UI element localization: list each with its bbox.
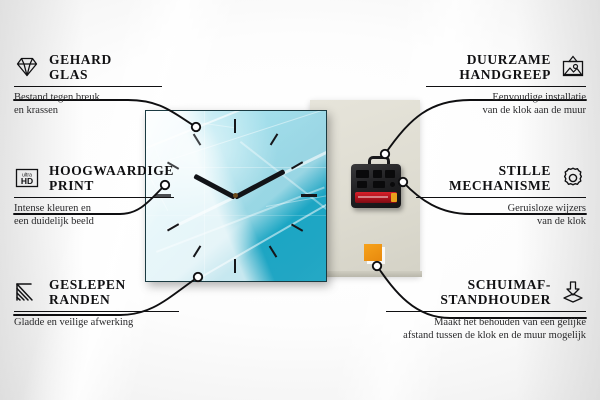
clock-tick-11 xyxy=(193,133,202,145)
clock-tick-1 xyxy=(270,133,279,145)
feather-streak xyxy=(266,192,327,207)
feature-gehard-glas: GEHARDGLAS Bestand tegen breuken krassen xyxy=(14,52,174,117)
feature-title: DUURZAMEHANDGREEP xyxy=(459,52,551,82)
glass-seam xyxy=(204,111,205,281)
feature-divider xyxy=(386,311,586,312)
clock-hour-hand xyxy=(193,174,236,200)
feather-streak xyxy=(176,119,236,128)
feature-divider xyxy=(426,86,586,87)
feature-divider xyxy=(14,86,162,87)
feature-stille-mechanisme: STILLEMECHANISME Geruisloze wijzersvan d… xyxy=(416,163,586,228)
feature-header: GESLEPENRANDEN xyxy=(14,277,189,307)
feature-title: GESLEPENRANDEN xyxy=(49,277,126,307)
feature-description: Eenvoudige installatievan de klok aan de… xyxy=(426,92,586,117)
feature-title: STILLEMECHANISME xyxy=(449,163,551,193)
feature-header: SCHUIMAF-STANDHOUDER xyxy=(386,277,586,307)
feature-description: Intense kleuren eneen duidelijk beeld xyxy=(14,203,184,228)
feather-streak xyxy=(201,201,327,278)
feature-divider xyxy=(14,311,179,312)
movement-detail xyxy=(385,170,395,178)
movement-detail xyxy=(390,182,395,187)
foam-spacer-pad xyxy=(364,244,382,261)
picture-hanger-icon xyxy=(560,54,586,80)
clock-tick-7 xyxy=(193,245,202,257)
feature-header: ultra HD HOOGWAARDIGEPRINT xyxy=(14,163,184,193)
feature-hoogwaardige-print: ultra HD HOOGWAARDIGEPRINT Intense kleur… xyxy=(14,163,184,228)
clock-tick-3 xyxy=(301,194,317,197)
feature-divider xyxy=(14,197,174,198)
battery-positive-tip xyxy=(391,193,397,202)
beveled-edges-icon xyxy=(14,279,40,305)
infographic-canvas: GEHARDGLAS Bestand tegen breuken krassen… xyxy=(0,0,600,400)
clock-minute-hand xyxy=(234,169,286,200)
diamond-icon xyxy=(14,54,40,80)
clock-tick-6 xyxy=(234,259,236,273)
movement-detail xyxy=(373,170,382,178)
feature-description: Gladde en veilige afwerking xyxy=(14,317,189,330)
feature-header: DUURZAMEHANDGREEP xyxy=(426,52,586,82)
feather-streak xyxy=(240,141,327,216)
feature-header: GEHARDGLAS xyxy=(14,52,174,82)
feature-header: STILLEMECHANISME xyxy=(416,163,586,193)
feature-divider xyxy=(416,197,586,198)
feature-title: SCHUIMAF-STANDHOUDER xyxy=(440,277,551,307)
clock-tick-5 xyxy=(269,245,278,257)
feature-description: Maakt het behouden van een gelijkeafstan… xyxy=(386,317,586,342)
foam-spacer-icon xyxy=(560,279,586,305)
gear-icon xyxy=(560,165,586,191)
svg-text:HD: HD xyxy=(21,176,33,186)
movement-detail xyxy=(373,181,385,188)
ultra-hd-icon: ultra HD xyxy=(14,165,40,191)
clock-center-cap xyxy=(233,193,238,198)
feature-description: Geruisloze wijzersvan de klok xyxy=(416,203,586,228)
feature-description: Bestand tegen breuken krassen xyxy=(14,92,174,117)
feature-geslepen-randen: GESLEPENRANDEN Gladde en veilige afwerki… xyxy=(14,277,189,330)
movement-detail xyxy=(357,181,367,188)
feature-title: GEHARDGLAS xyxy=(49,52,112,82)
clock-tick-4 xyxy=(291,223,303,232)
feature-schuimafstandhouder: SCHUIMAF-STANDHOUDER Maakt het behouden … xyxy=(386,277,586,342)
clock-tick-12 xyxy=(234,119,236,133)
feature-duurzame-handgreep: DUURZAMEHANDGREEP Eenvoudige installatie… xyxy=(426,52,586,117)
movement-detail xyxy=(356,170,369,178)
feature-title: HOOGWAARDIGEPRINT xyxy=(49,163,174,193)
battery-label-band xyxy=(358,196,388,198)
